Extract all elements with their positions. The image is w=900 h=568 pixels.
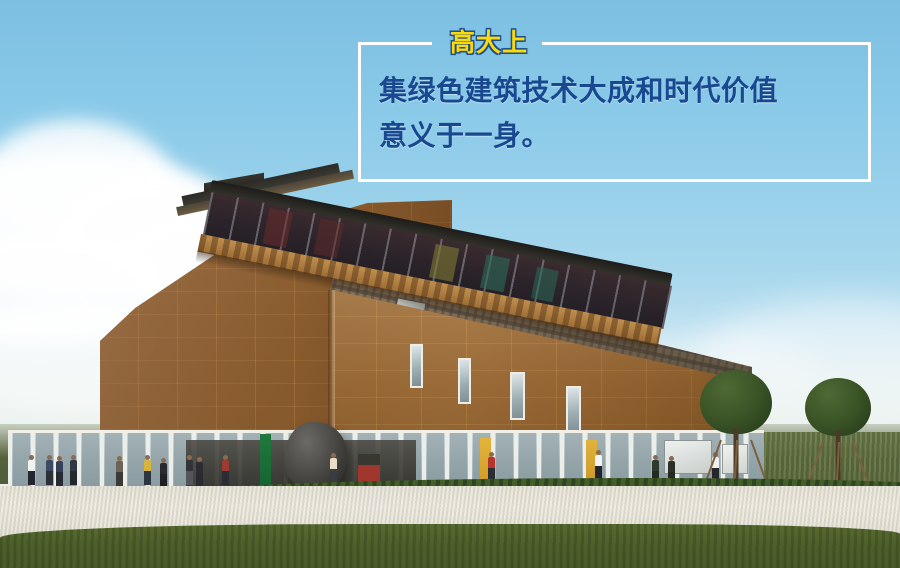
caption-frame-line-left	[358, 42, 432, 45]
visitor	[46, 455, 53, 485]
visitor	[70, 455, 77, 485]
caption-line-1: 集绿色建筑技术大成和时代价值	[379, 68, 865, 113]
visitor	[595, 450, 602, 480]
lawn	[0, 524, 900, 568]
staked-tree	[700, 370, 772, 494]
visitor-torso	[186, 460, 193, 471]
visitor-legs	[56, 472, 63, 486]
caption-line-2: 意义于一身。	[379, 113, 865, 158]
tree-stake	[704, 440, 722, 484]
visitor-legs	[70, 471, 77, 485]
visitor-torso	[222, 460, 229, 471]
visitor-legs	[46, 471, 53, 485]
visitor-torso	[144, 460, 151, 471]
visitor-torso	[46, 460, 53, 471]
visitor-torso	[196, 462, 203, 473]
caption-title: 高大上	[435, 26, 543, 60]
visitor-legs	[28, 471, 35, 485]
visitor-torso	[330, 458, 337, 469]
visitor-torso	[56, 461, 63, 472]
visitor-torso	[488, 457, 495, 468]
tree-stake	[750, 440, 768, 484]
glass-tint	[429, 244, 459, 282]
visitor-torso	[668, 461, 675, 472]
visitor	[56, 456, 63, 486]
glass-tint	[313, 218, 344, 258]
facade-window	[566, 386, 581, 434]
tree-crown	[805, 378, 871, 436]
slide-canvas: 高大上 集绿色建筑技术大成和时代价值 意义于一身。	[0, 0, 900, 568]
caption-body: 集绿色建筑技术大成和时代价值 意义于一身。	[379, 68, 865, 158]
glass-tint	[531, 267, 559, 303]
visitor-torso	[652, 460, 659, 471]
tree-crown	[700, 370, 772, 434]
caption-frame-line-right	[542, 42, 871, 45]
glass-tint	[262, 208, 293, 248]
visitor-torso	[28, 460, 35, 471]
visitor-torso	[116, 461, 123, 472]
visitor-torso	[70, 460, 77, 471]
facade-window	[410, 344, 423, 388]
facade-window	[510, 372, 525, 420]
visitor-torso	[595, 455, 602, 466]
caption-panel: 高大上 集绿色建筑技术大成和时代价值 意义于一身。	[347, 30, 881, 190]
visitor	[28, 455, 35, 485]
green-building	[100, 172, 760, 502]
facade-window	[458, 358, 471, 404]
visitor-torso	[160, 463, 167, 474]
glass-tint	[480, 254, 510, 292]
